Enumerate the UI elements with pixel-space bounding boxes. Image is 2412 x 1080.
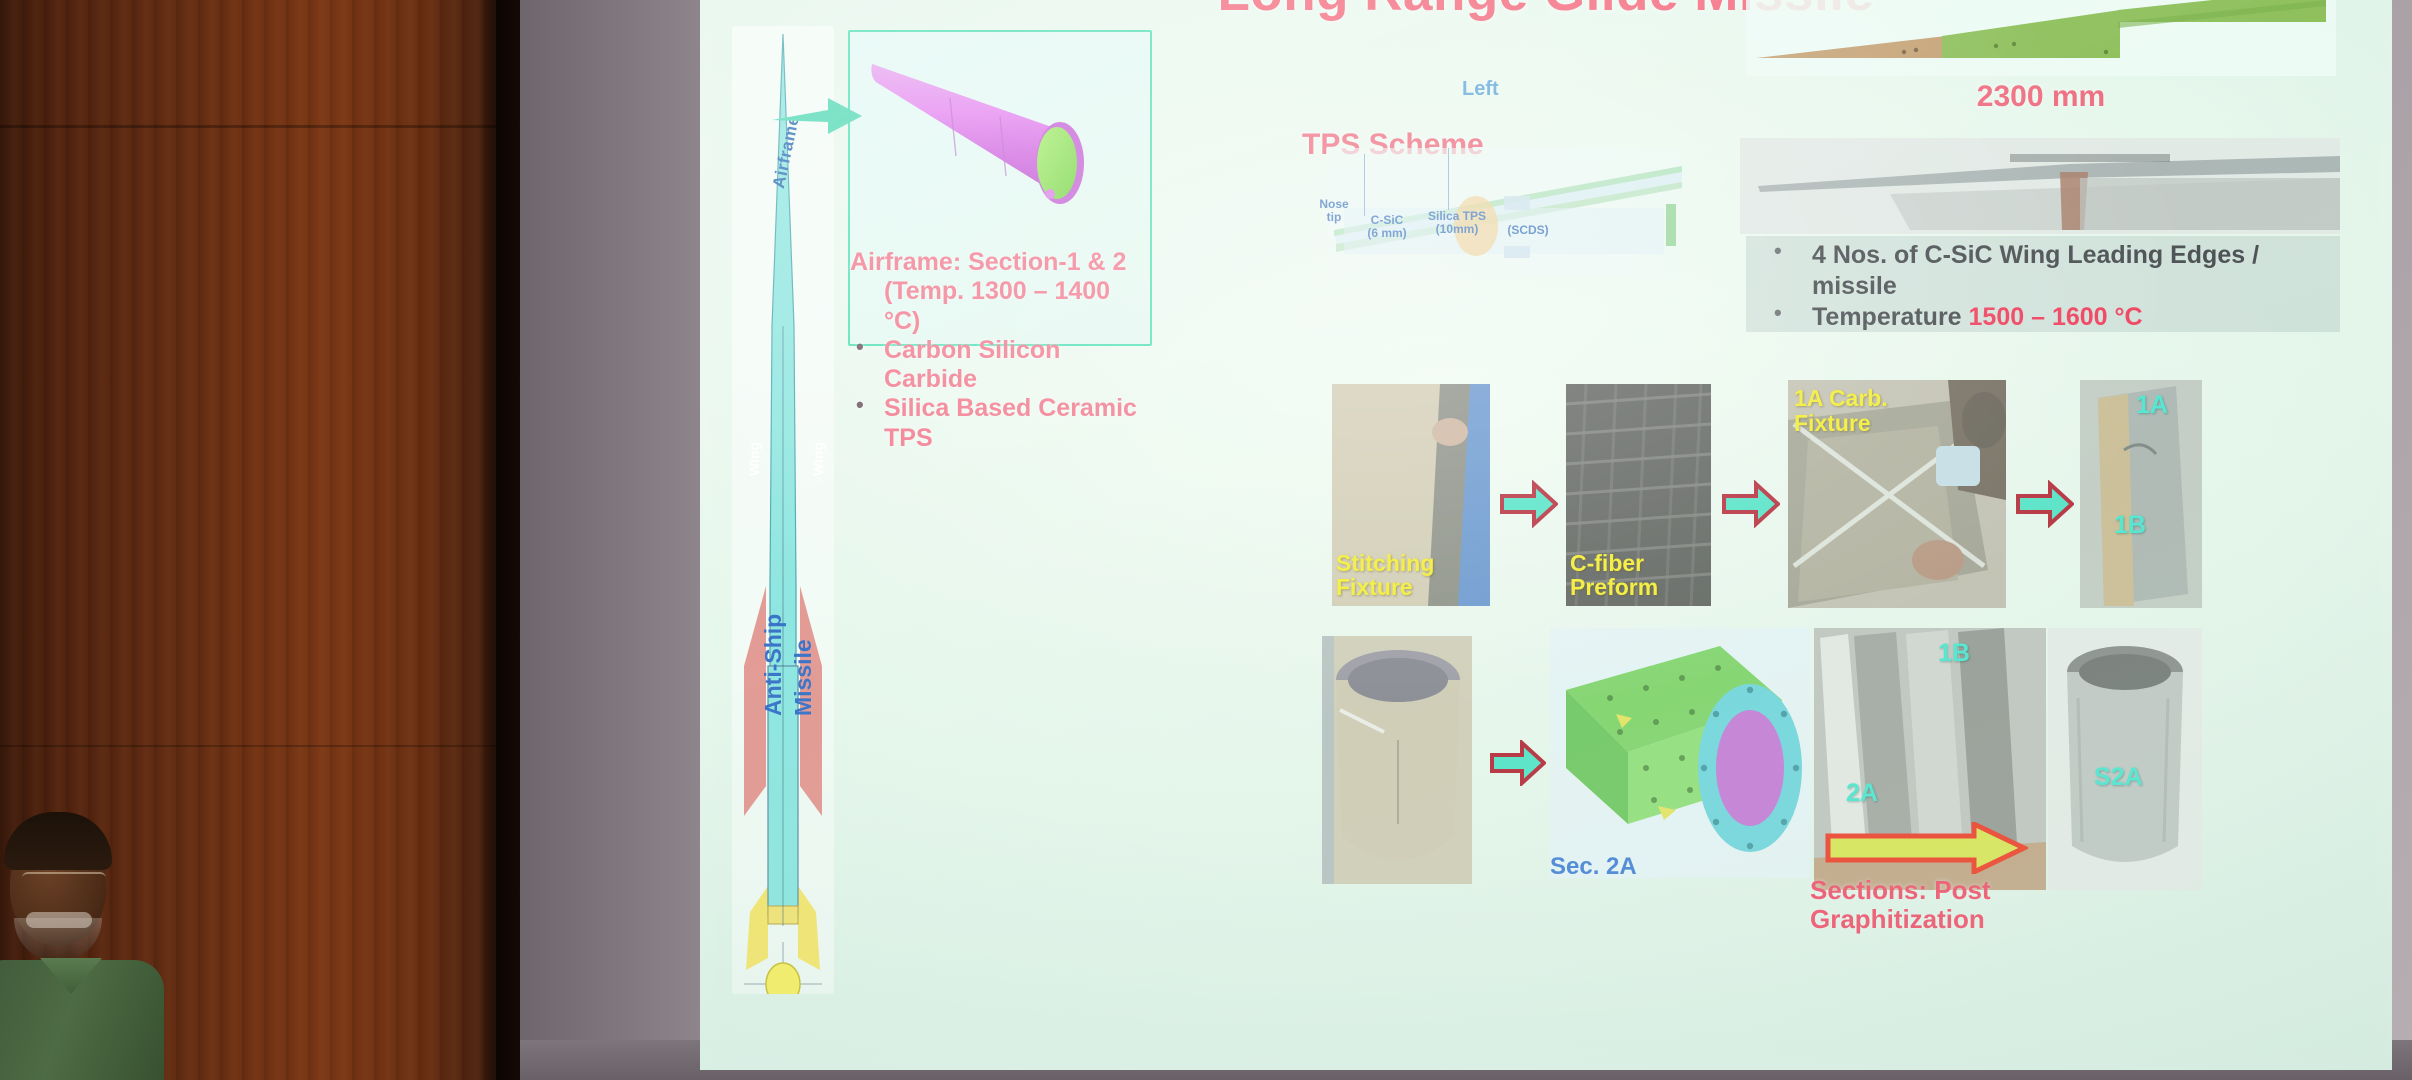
process-photo-s2a-section: S2A <box>2048 628 2202 890</box>
airframe-heading-line2: (Temp. 1300 – 1400 °C) <box>850 277 1150 336</box>
process-caption-c-fiber-preform: C-fiber Preform <box>1570 551 1710 600</box>
airframe-bullet-1: Silica Based Ceramic TPS <box>850 394 1150 453</box>
airframe-bullet-list: Carbon Silicon Carbide Silica Based Cera… <box>850 336 1150 453</box>
process-row-2: 2A: Stitch. Fix. <box>1322 628 2342 928</box>
screenshot-root: Long Range Glide Missile <box>0 0 2412 1080</box>
wall-dark-edge <box>496 0 520 1080</box>
airframe-3d-cone <box>854 36 1144 216</box>
tps-leader-line-1 <box>1364 154 1365 216</box>
wall-seam-lower <box>0 745 500 747</box>
process-photo-1a-carb-fixture: 1A Carb. Fixture <box>1788 380 2006 608</box>
airframe-callout-text: Airframe: Section-1 & 2 (Temp. 1300 – 14… <box>850 248 1150 453</box>
tps-side-label: Left <box>1462 78 1499 101</box>
missile-antiship-label-line2: Missile <box>790 639 817 716</box>
missile-antiship-label-line1: Anti-Ship <box>762 614 786 716</box>
airframe-heading-line1: Airframe: Section-1 & 2 <box>850 248 1150 277</box>
speaker-moustache <box>26 912 92 928</box>
tps-callout-silica-tps: Silica TPS (10mm) <box>1426 210 1488 237</box>
wing-temperature-value: 1500 – 1600 °C <box>1969 303 2143 331</box>
process-arrow-1-icon <box>1500 480 1558 528</box>
wing-bullet-0: 4 Nos. of C-SiC Wing Leading Edges / mis… <box>1752 240 2338 302</box>
wing-leading-edge-cad <box>1746 0 2336 76</box>
projection-screen-left-shadow <box>520 0 700 1080</box>
tps-callout-nose-tip: Nose tip <box>1312 198 1356 225</box>
process-arrow-4-icon <box>1490 740 1546 786</box>
process-row-1: Stitching Fixture C-fiber Preform <box>1332 380 2340 610</box>
process-caption-1a-carb-fixture: 1A Carb. Fixture <box>1794 386 1944 435</box>
wing-bullet-1: Temperature 1500 – 1600 °C <box>1752 302 2338 333</box>
missile-wing-label-right: Wing <box>810 442 826 476</box>
process-overlay-label-1a: 1A <box>2136 392 2168 419</box>
tps-callout-scds: (SCDS) <box>1500 224 1556 237</box>
process-caption-sections-post-graphitization: Sections: Post Graphitization <box>1810 876 2050 933</box>
process-arrow-2-icon <box>1722 480 1780 528</box>
process-overlay-label-s2a: S2A <box>2094 764 2143 791</box>
process-overlay-label-1b: 1B <box>2114 512 2146 539</box>
wall-seam-upper <box>0 125 500 128</box>
presentation-slide: Long Range Glide Missile <box>700 0 2392 1070</box>
process-caption-stitching-fixture: Stitching Fixture <box>1336 551 1486 600</box>
wing-leading-edge-text: 4 Nos. of C-SiC Wing Leading Edges / mis… <box>1752 240 2338 333</box>
process-overlay-label-2a: 2A <box>1846 780 1878 807</box>
wing-bullet-1-label: Temperature <box>1812 303 1969 331</box>
missile-wing-label-left: Wing <box>746 442 762 476</box>
process-arrow-3-icon <box>2016 480 2074 528</box>
process-render-sec-2a-carb-fixture: Sec. 2A Carb. Fixture <box>1550 628 1810 878</box>
tps-leader-line-2 <box>1448 148 1449 210</box>
wing-leading-edge-photo <box>1740 138 2340 234</box>
airframe-bullet-0: Carbon Silicon Carbide <box>850 336 1150 395</box>
process-photo-2a-stitch-fixture: 2A: Stitch. Fix. <box>1322 636 1472 884</box>
arrow-to-cone-icon <box>772 92 864 142</box>
wing-bullet-list: 4 Nos. of C-SiC Wing Leading Edges / mis… <box>1752 240 2338 333</box>
speaker-glasses <box>22 872 106 888</box>
wing-dimension-label: 2300 mm <box>1746 80 2336 114</box>
process-arrow-graphitization-icon <box>1824 822 2028 874</box>
process-caption-sec-2a-carb-fixture: Sec. 2A Carb. Fixture <box>1550 854 1662 878</box>
missile-diagram-panel: Airframe Wing Wing Anti-Ship Missile <box>732 26 834 994</box>
tps-callout-csic: C-SiC (6 mm) <box>1364 214 1410 241</box>
process-photo-1a-1b-section: 1A 1B <box>2080 380 2202 608</box>
process-photo-c-fiber-preform: C-fiber Preform <box>1566 384 1711 606</box>
process-photo-stitching-fixture: Stitching Fixture <box>1332 384 1490 606</box>
process-overlay-label-1b-row2: 1B <box>1938 640 1970 667</box>
